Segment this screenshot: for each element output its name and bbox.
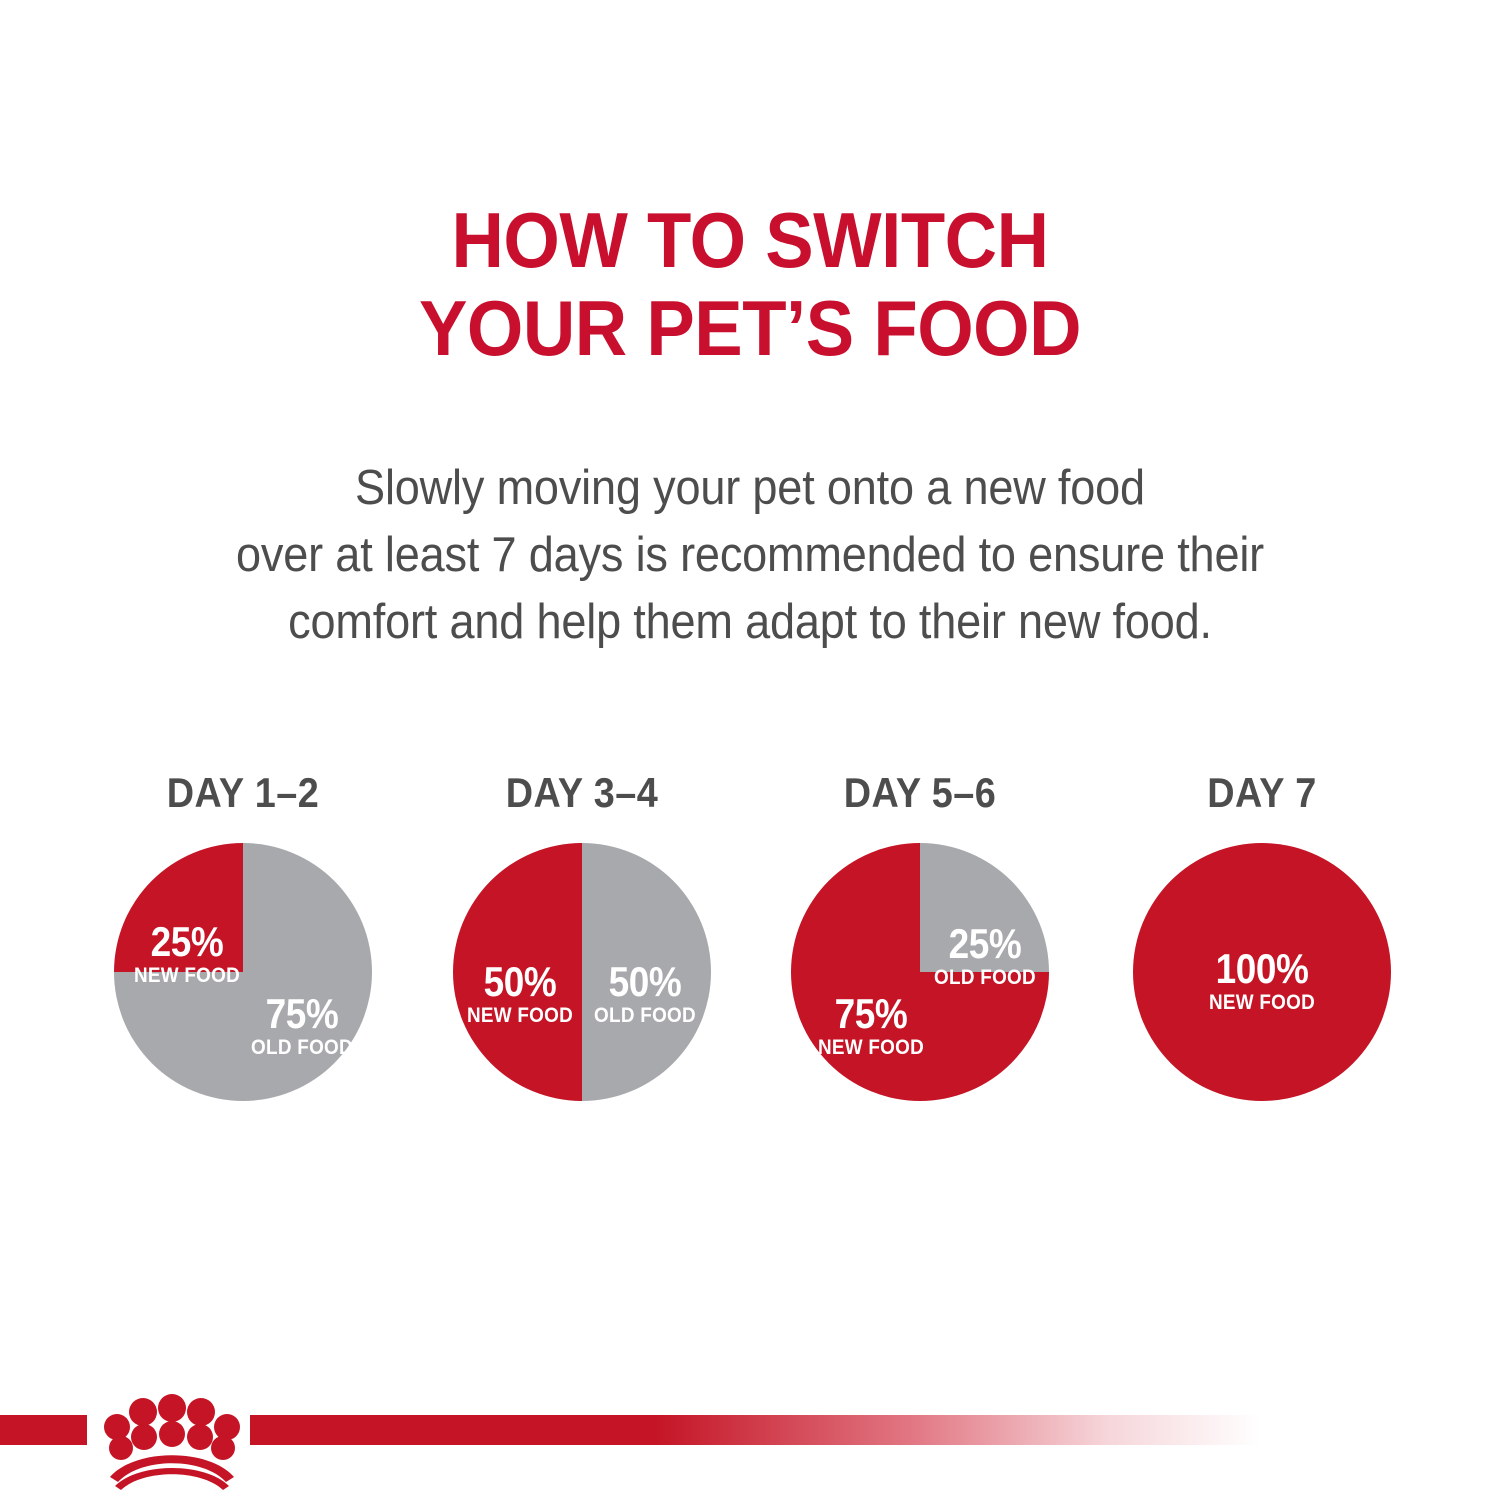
intro-paragraph: Slowly moving your pet onto a new food o…	[50, 455, 1450, 656]
brand-bar-right-segment	[250, 1415, 1260, 1445]
slice-percent: 50%	[590, 961, 699, 1003]
slice-name: NEW FOOD	[129, 963, 246, 989]
slice-label-new-food-3: 75% NEW FOOD	[805, 993, 937, 1061]
infographic-page: HOW TO SWITCH YOUR PET’S FOOD Slowly mov…	[0, 0, 1500, 1500]
intro-line-2: over at least 7 days is recommended to e…	[106, 522, 1394, 589]
slice-label-new-food-2: 50% NEW FOOD	[459, 961, 581, 1029]
slice-percent: 100%	[1194, 948, 1330, 990]
page-title: HOW TO SWITCH YOUR PET’S FOOD	[0, 196, 1500, 372]
slice-label-new-food-4: 100% NEW FOOD	[1185, 948, 1339, 1016]
title-line-1: HOW TO SWITCH	[53, 196, 1448, 284]
pie-chart-day-3-4: DAY 3–4 50% NEW FOOD 50% OLD FOOD	[412, 770, 752, 1101]
brand-bar-left-segment	[0, 1415, 87, 1445]
intro-line-1: Slowly moving your pet onto a new food	[106, 455, 1394, 522]
slice-label-old-food-1: 75% OLD FOOD	[232, 993, 372, 1061]
slice-percent: 50%	[466, 961, 573, 1003]
pie-chart-day-1-2: DAY 1–2 25% NEW FOOD 75% OLD FOOD	[73, 770, 413, 1101]
day-label-1: DAY 1–2	[90, 770, 396, 816]
pie-graphic-4: 100% NEW FOOD	[1133, 843, 1391, 1101]
slice-name: OLD FOOD	[589, 1003, 701, 1029]
day-label-3: DAY 5–6	[767, 770, 1073, 816]
slice-percent: 75%	[240, 993, 363, 1035]
royal-canin-crown-icon	[97, 1386, 247, 1491]
pie-graphic-3: 25% OLD FOOD 75% NEW FOOD	[791, 843, 1049, 1101]
slice-percent: 25%	[930, 923, 1039, 965]
slice-label-old-food-2: 50% OLD FOOD	[583, 961, 707, 1029]
slice-label-old-food-3: 25% OLD FOOD	[923, 923, 1047, 991]
intro-line-3: comfort and help them adapt to their new…	[106, 589, 1394, 656]
slice-percent: 25%	[130, 921, 244, 963]
title-line-2: YOUR PET’S FOOD	[53, 284, 1448, 372]
pie-graphic-2: 50% NEW FOOD 50% OLD FOOD	[453, 843, 711, 1101]
pie-graphic-1: 25% NEW FOOD 75% OLD FOOD	[114, 843, 372, 1101]
slice-label-new-food-1: 25% NEW FOOD	[122, 921, 252, 989]
slice-name: OLD FOOD	[239, 1035, 365, 1061]
pie-chart-row: DAY 1–2 25% NEW FOOD 75% OLD FOOD DAY 3–…	[0, 770, 1500, 1170]
slice-name: NEW FOOD	[812, 1035, 931, 1061]
slice-name: NEW FOOD	[465, 1003, 575, 1029]
day-label-4: DAY 7	[1109, 770, 1415, 816]
slice-percent: 75%	[813, 993, 929, 1035]
pie-chart-day-7: DAY 7 100% NEW FOOD	[1092, 770, 1432, 1101]
footer-brand-bar	[0, 1386, 1500, 1500]
slice-name: NEW FOOD	[1193, 990, 1332, 1016]
slice-name: OLD FOOD	[929, 965, 1041, 991]
day-label-2: DAY 3–4	[429, 770, 735, 816]
pie-chart-day-5-6: DAY 5–6 25% OLD FOOD 75% NEW FOOD	[750, 770, 1090, 1101]
